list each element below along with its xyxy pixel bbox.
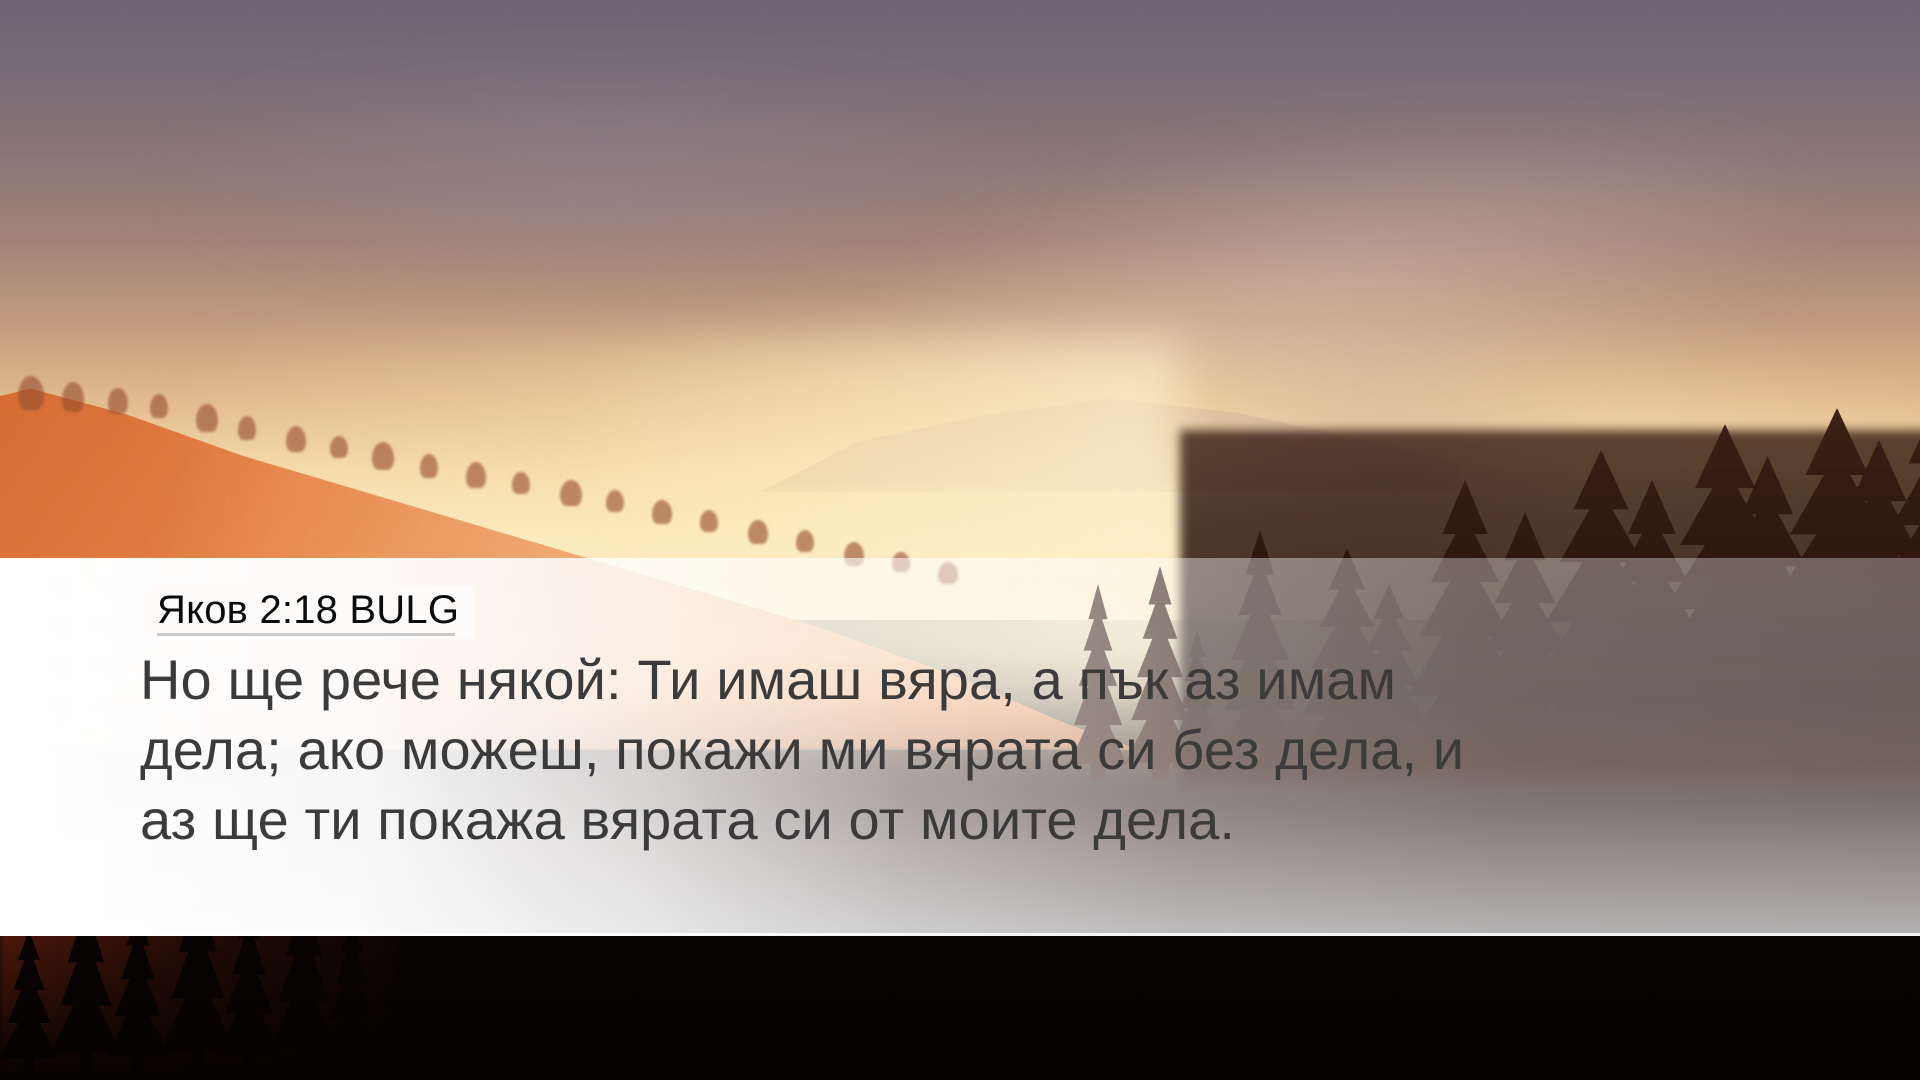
ridge-tree [700, 510, 718, 532]
ridge-tree [18, 376, 44, 410]
ridge-tree [466, 462, 486, 488]
verse-overlay-panel: Яков 2:18 BULG Но ще рече някой: Ти имаш… [0, 558, 1920, 936]
ridge-tree [372, 442, 394, 470]
ridge-tree [330, 436, 348, 458]
ridge-tree [286, 426, 306, 452]
ridge-tree [796, 530, 814, 552]
verse-slide: Яков 2:18 BULG Но ще рече някой: Ти имаш… [0, 0, 1920, 1080]
ridge-tree [560, 480, 582, 506]
verse-reference-underline [157, 633, 455, 636]
ridge-tree [606, 490, 624, 512]
ridge-tree [196, 404, 218, 432]
ridge-tree [512, 472, 530, 494]
verse-reference-label: Яков 2:18 BULG [157, 588, 459, 632]
ridge-tree [652, 500, 672, 524]
ridge-tree [420, 454, 438, 478]
verse-reference-badge: Яков 2:18 BULG [145, 586, 473, 639]
verse-text: Но ще рече някой: Ти имаш вяра, а пък аз… [140, 645, 1560, 855]
bottom-vignette [0, 930, 1920, 1080]
verse-content: Яков 2:18 BULG Но ще рече някой: Ти имаш… [140, 558, 1920, 855]
ridge-tree [748, 520, 768, 544]
ridge-tree [62, 382, 84, 412]
ridge-tree [150, 394, 168, 418]
ridge-tree [238, 416, 256, 440]
ridge-tree [108, 388, 128, 414]
